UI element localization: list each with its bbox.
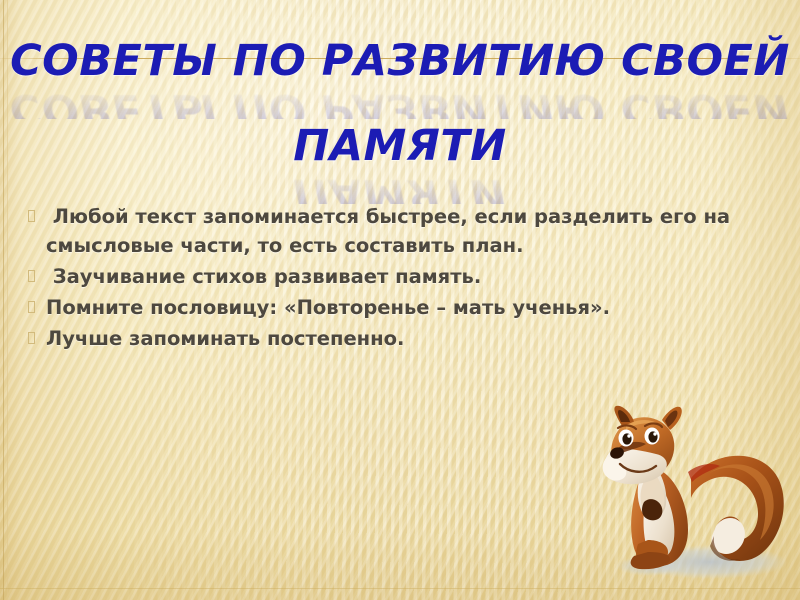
bullet-box-icon	[28, 293, 46, 322]
presentation-slide: СОВЕТЫ ПО РАЗВИТИЮ СВОЕЙ СОВЕТЫ ПО РАЗВИ…	[0, 0, 800, 600]
fox-eye-glint-left	[627, 434, 630, 437]
list-item-text: Лучше запоминать постепенно.	[46, 324, 768, 353]
title-line-2-reflection: ПАМЯТИ	[0, 170, 800, 204]
title-line-1-reflection-text: СОВЕТЫ ПО РАЗВИТИЮ СВОЕЙ	[0, 85, 800, 119]
title-line-1-reflection: СОВЕТЫ ПО РАЗВИТИЮ СВОЕЙ	[0, 85, 800, 119]
list-item: Помните пословицу: «Повторенье – мать уч…	[28, 293, 768, 322]
bullet-box-icon	[28, 202, 46, 231]
list-item-text: Заучивание стихов развивает память.	[46, 262, 768, 291]
list-item-text: Помните пословицу: «Повторенье – мать уч…	[46, 293, 768, 322]
list-item-text: Любой текст запоминается быстрее, если р…	[46, 202, 768, 260]
list-item: Лучше запоминать постепенно.	[28, 324, 768, 353]
title-line-2-reflection-text: ПАМЯТИ	[0, 170, 800, 204]
bullet-box-icon	[28, 324, 46, 353]
title-line-1: СОВЕТЫ ПО РАЗВИТИЮ СВОЕЙ	[0, 34, 800, 88]
fox-illustration	[588, 404, 800, 590]
bullet-box-icon	[28, 262, 46, 291]
slide-title: СОВЕТЫ ПО РАЗВИТИЮ СВОЕЙ СОВЕТЫ ПО РАЗВИ…	[0, 34, 800, 204]
list-item: Любой текст запоминается быстрее, если р…	[28, 202, 768, 260]
title-line-2: ПАМЯТИ	[0, 119, 800, 173]
fox-eye-glint-right	[653, 432, 656, 435]
slide-body: Любой текст запоминается быстрее, если р…	[28, 202, 768, 355]
list-item: Заучивание стихов развивает память.	[28, 262, 768, 291]
